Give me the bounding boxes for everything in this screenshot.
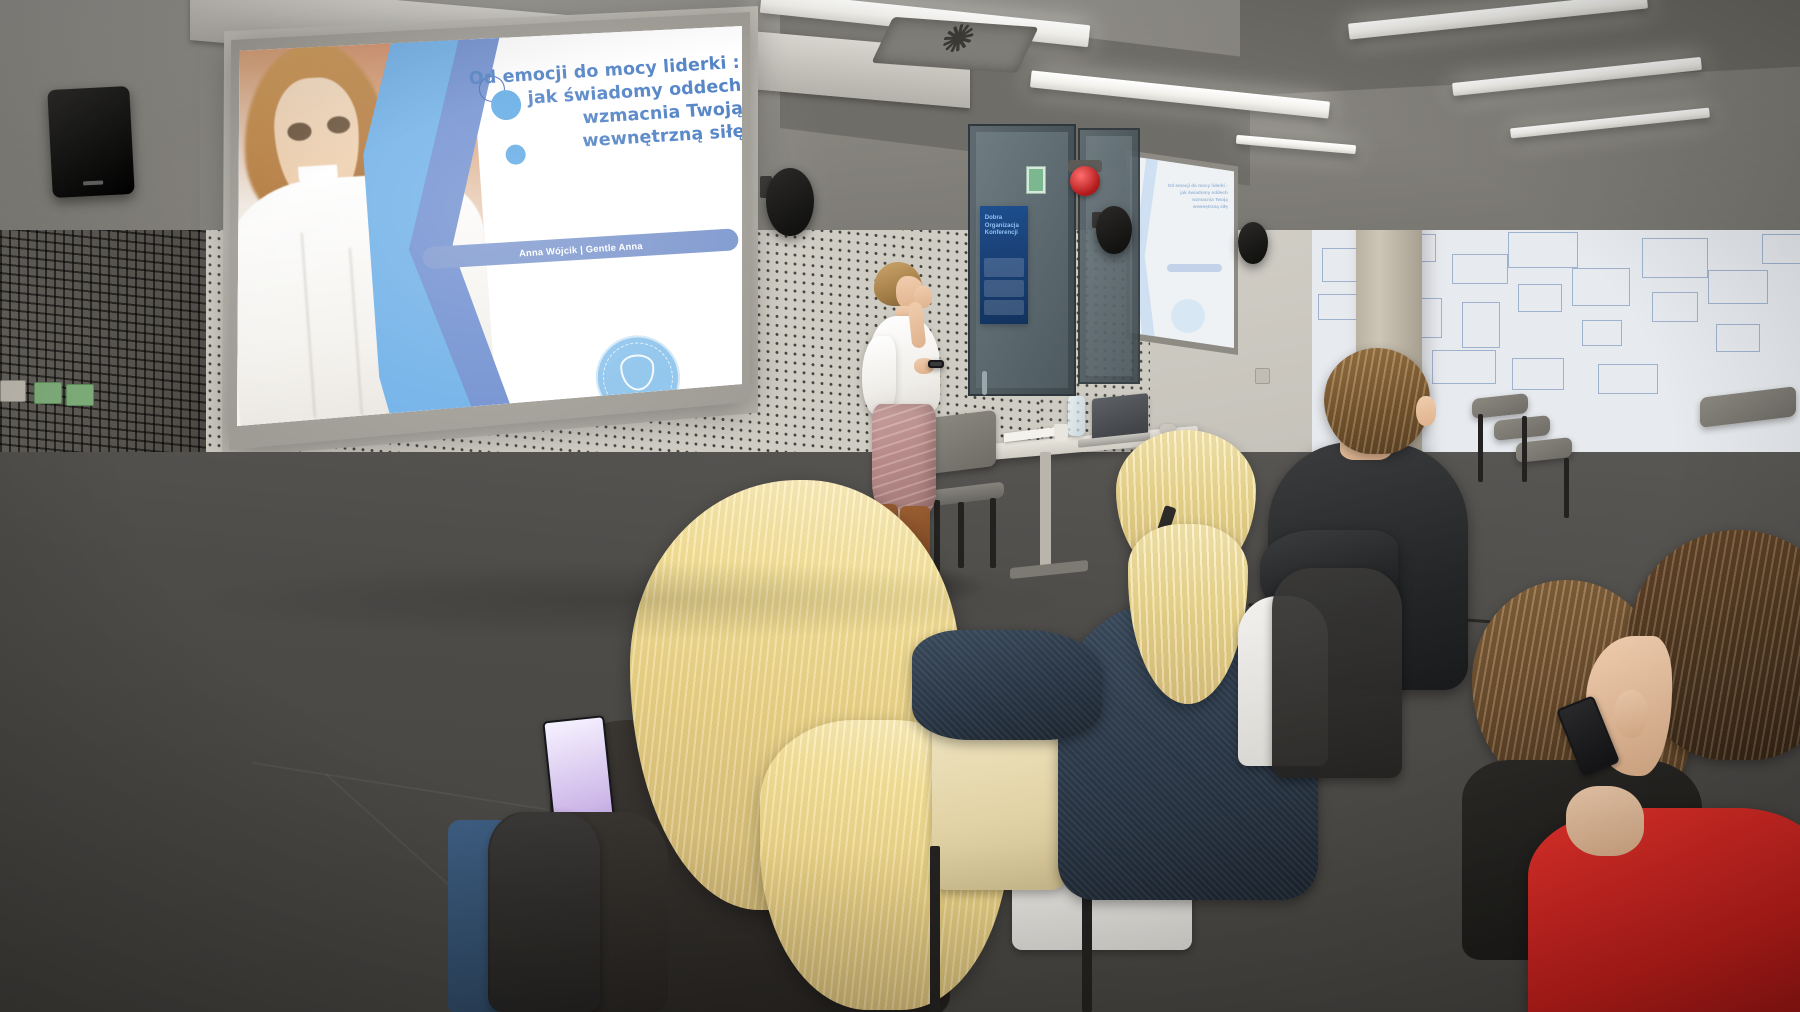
desk-leg-left bbox=[1040, 452, 1051, 570]
secondary-slide-title: Od emocji do mocy liderki : jak świadomy… bbox=[1155, 183, 1228, 211]
poster-photo-3 bbox=[984, 300, 1024, 314]
chair-leg-2 bbox=[990, 498, 996, 568]
speaker-brand-label bbox=[83, 181, 103, 186]
wall-speaker-right-a bbox=[1096, 206, 1132, 254]
wall-outlet-right bbox=[1255, 368, 1270, 384]
chair-leg-3 bbox=[958, 502, 964, 568]
wall-poster: DobraOrganizacjaKonferencji bbox=[980, 206, 1028, 324]
water-bottle bbox=[1068, 396, 1085, 436]
door-handle[interactable] bbox=[982, 371, 987, 395]
secondary-title-line-3: wzmacnia Twoją bbox=[1155, 197, 1228, 204]
paper-cup bbox=[1054, 424, 1068, 441]
red-top-garment bbox=[1528, 808, 1800, 1012]
exit-sign-glyph bbox=[1029, 169, 1043, 191]
secondary-screen-surface: Od emocji do mocy liderki : jak świadomy… bbox=[1130, 156, 1234, 348]
wall-outlet-green-1 bbox=[34, 382, 62, 404]
stacked-chair-leg-2 bbox=[1522, 416, 1527, 482]
exit-sign bbox=[1026, 166, 1046, 194]
poster-heading: DobraOrganizacjaKonferencji bbox=[985, 215, 1019, 238]
wall-outlet-green-2 bbox=[66, 384, 94, 406]
red-top-ear bbox=[1614, 690, 1648, 738]
poster-photo-2 bbox=[984, 280, 1024, 297]
presenter-skirt bbox=[872, 404, 936, 516]
wall-speaker-center bbox=[766, 168, 814, 236]
dark-shell-chair-left-front[interactable] bbox=[490, 812, 600, 1012]
scene-root: Od emocji do mocy liderki : jak świadomy… bbox=[0, 0, 1800, 1012]
secondary-slide-badge bbox=[1167, 264, 1221, 272]
stacked-chair-leg-3 bbox=[1564, 458, 1569, 518]
poster-photo-1 bbox=[984, 258, 1024, 277]
secondary-projection-screen: Od emocji do mocy liderki : jak świadomy… bbox=[1126, 150, 1238, 355]
wall-outlet-left bbox=[0, 380, 26, 402]
front-chair-leg-1 bbox=[930, 846, 940, 1012]
clicker-led bbox=[930, 362, 942, 366]
man-hair bbox=[1324, 348, 1430, 454]
fire-alarm-icon bbox=[1070, 166, 1100, 196]
ponytail-lap bbox=[912, 630, 1102, 740]
man-ear bbox=[1416, 396, 1436, 426]
wall-speaker-right-b bbox=[1238, 222, 1268, 264]
secondary-title-line-2: jak świadomy oddech bbox=[1155, 190, 1228, 197]
presentation-slide: Od emocji do mocy liderki : jak świadomy… bbox=[237, 26, 742, 426]
stacked-chair-leg-1 bbox=[1478, 414, 1483, 482]
dark-shell-chair-right[interactable] bbox=[1272, 568, 1402, 778]
red-top-hand bbox=[1566, 786, 1644, 856]
wall-speaker-left bbox=[47, 86, 135, 198]
secondary-slide-logo bbox=[1171, 299, 1205, 333]
secondary-title-line-4: wewnętrzną siłę bbox=[1155, 204, 1228, 211]
secondary-title-line-1: Od emocji do mocy liderki : bbox=[1155, 183, 1228, 190]
clicker-remote[interactable] bbox=[928, 360, 944, 368]
projection-screen: Od emocji do mocy liderki : jak świadomy… bbox=[228, 12, 750, 450]
screen-surface: Od emocji do mocy liderki : jak świadomy… bbox=[237, 26, 742, 426]
wall-floor-shadow bbox=[180, 560, 1080, 640]
chair-back bbox=[928, 410, 996, 474]
